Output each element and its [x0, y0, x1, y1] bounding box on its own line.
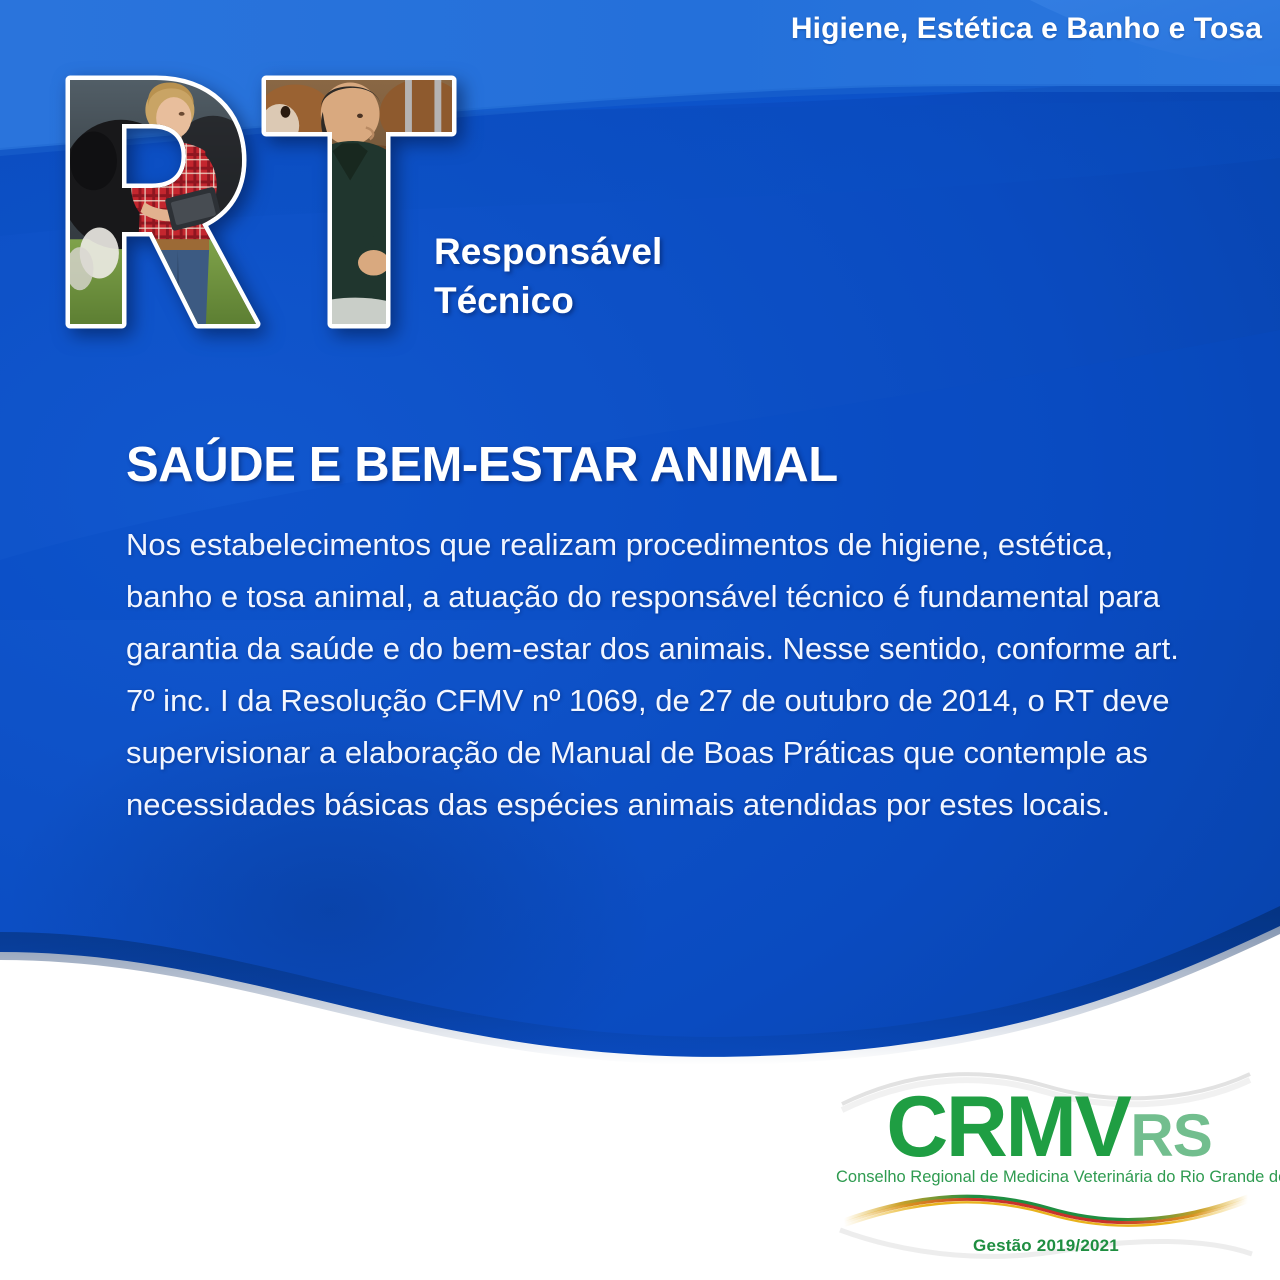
logo-gestao-text: Gestão 2019/2021: [836, 1236, 1256, 1256]
logo-tagline: Conselho Regional de Medicina Veterinári…: [836, 1168, 1256, 1187]
rt-subtitle-line-2: Técnico: [434, 277, 662, 326]
logo-wordmark: CRMV RS: [844, 1088, 1254, 1167]
logo-crmv-text: CRMV: [886, 1088, 1129, 1167]
crmv-rs-logo: CRMV RS Conselho Regional de Medicina Ve…: [836, 1060, 1256, 1270]
main-body-text: Nos estabelecimentos que realizam proced…: [126, 519, 1196, 831]
logo-rs-text: RS: [1130, 1108, 1211, 1163]
main-title: SAÚDE E BEM-ESTAR ANIMAL: [126, 437, 838, 493]
rt-subtitle-line-1: Responsável: [434, 228, 662, 277]
rt-monogram: [56, 62, 476, 342]
signature-mark: [112, 975, 242, 1065]
page-title: Higiene, Estética e Banho e Tosa: [791, 12, 1262, 46]
rt-subtitle: Responsável Técnico: [434, 228, 662, 326]
poster-canvas: Higiene, Estética e Banho e Tosa: [0, 0, 1280, 1280]
